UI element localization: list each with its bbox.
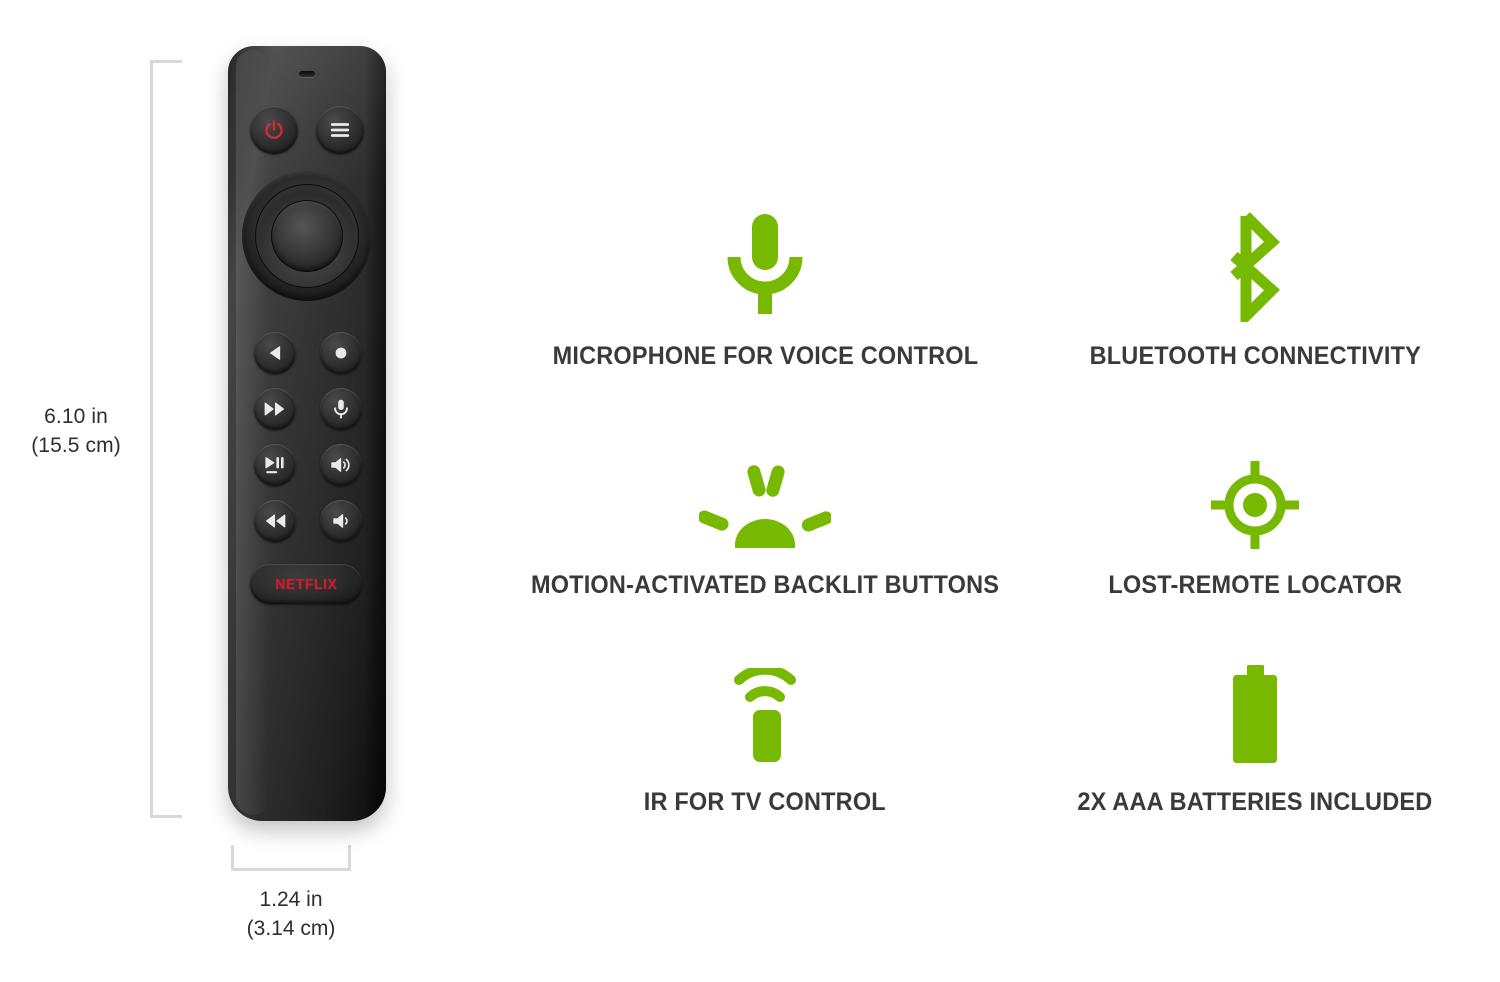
power-icon <box>263 119 285 141</box>
feature-ir-icon-wrap <box>724 646 806 768</box>
remote-gloss-highlight <box>236 50 270 815</box>
feature-bluetooth: BLUETOOTH CONNECTIVITY <box>1010 200 1500 371</box>
feature-microphone: MICROPHONE FOR VOICE CONTROL <box>520 200 1010 371</box>
fast-forward-button[interactable] <box>254 388 296 430</box>
remote-body <box>228 46 386 821</box>
dpad-select-button[interactable] <box>242 171 372 301</box>
width-dimension-label: 1.24 in (3.14 cm) <box>221 885 361 943</box>
feature-bluetooth-icon-wrap <box>1220 200 1290 322</box>
product-feature-sheet: 6.10 in (15.5 cm) 1.24 in (3.14 cm) <box>0 0 1500 982</box>
ir-signal-icon <box>724 668 806 768</box>
feature-batteries: 2X AAA BATTERIES INCLUDED <box>1010 646 1500 817</box>
bluetooth-icon <box>1220 210 1290 322</box>
row-spacer-2 <box>520 600 1500 646</box>
volume-up-icon <box>330 456 352 474</box>
rewind-button[interactable] <box>254 500 296 542</box>
feature-row-3: IR FOR TV CONTROL 2X AAA BATTERIES INCLU… <box>520 646 1500 817</box>
height-dimension-imperial: 6.10 in <box>12 402 140 431</box>
fast-forward-icon <box>264 401 286 417</box>
menu-button[interactable] <box>316 106 364 154</box>
height-dimension-label: 6.10 in (15.5 cm) <box>12 402 140 460</box>
volume-down-button[interactable] <box>320 500 362 542</box>
backlight-rays-icon <box>699 459 831 551</box>
microphone-icon <box>333 399 349 419</box>
feature-ir-label: IR FOR TV CONTROL <box>644 788 886 817</box>
height-dimension-metric: (15.5 cm) <box>12 431 140 460</box>
feature-locator: LOST-REMOTE LOCATOR <box>1010 429 1500 600</box>
row-spacer-1 <box>520 371 1500 429</box>
battery-icon <box>1227 664 1283 768</box>
dpad-center-button[interactable] <box>271 200 343 272</box>
play-pause-button[interactable] <box>254 444 296 486</box>
play-pause-icon <box>264 455 286 475</box>
netflix-button[interactable]: NETFLIX <box>250 564 362 604</box>
feature-microphone-label: MICROPHONE FOR VOICE CONTROL <box>552 342 978 371</box>
dpad-ring[interactable] <box>255 184 359 288</box>
hamburger-icon <box>329 121 351 139</box>
feature-backlit-icon-wrap <box>699 429 831 551</box>
feature-backlit: MOTION-ACTIVATED BACKLIT BUTTONS <box>520 429 1010 600</box>
feature-row-2: MOTION-ACTIVATED BACKLIT BUTTONS LOST-RE… <box>520 429 1500 600</box>
volume-up-button[interactable] <box>320 444 362 486</box>
feature-row-1: MICROPHONE FOR VOICE CONTROL BLUETOOTH C… <box>520 200 1500 371</box>
height-dimension-bracket <box>150 60 182 818</box>
width-dimension-imperial: 1.24 in <box>221 885 361 914</box>
width-dimension-bracket <box>231 845 351 871</box>
voice-button[interactable] <box>320 388 362 430</box>
rewind-icon <box>264 513 286 529</box>
dot-icon <box>332 344 350 362</box>
microphone-icon <box>721 210 809 322</box>
feature-bluetooth-label: BLUETOOTH CONNECTIVITY <box>1089 342 1420 371</box>
remote-control-image: NETFLIX <box>228 46 386 821</box>
volume-down-icon <box>331 512 351 530</box>
power-button[interactable] <box>250 106 298 154</box>
feature-backlit-label: MOTION-ACTIVATED BACKLIT BUTTONS <box>531 571 999 600</box>
home-button[interactable] <box>320 332 362 374</box>
feature-ir: IR FOR TV CONTROL <box>520 646 1010 817</box>
netflix-wordmark: NETFLIX <box>275 576 337 593</box>
width-dimension-metric: (3.14 cm) <box>221 914 361 943</box>
back-button[interactable] <box>254 332 296 374</box>
feature-grid: MICROPHONE FOR VOICE CONTROL BLUETOOTH C… <box>520 200 1500 817</box>
feature-batteries-label: 2X AAA BATTERIES INCLUDED <box>1077 788 1432 817</box>
feature-locator-icon-wrap <box>1209 429 1301 551</box>
feature-batteries-icon-wrap <box>1227 646 1283 768</box>
feature-microphone-icon-wrap <box>721 200 809 322</box>
remote-right-edge-shadow <box>364 46 386 821</box>
triangle-left-icon <box>266 344 284 362</box>
crosshair-target-icon <box>1209 459 1301 551</box>
microphone-slot-icon <box>299 71 315 77</box>
feature-locator-label: LOST-REMOTE LOCATOR <box>1108 571 1402 600</box>
